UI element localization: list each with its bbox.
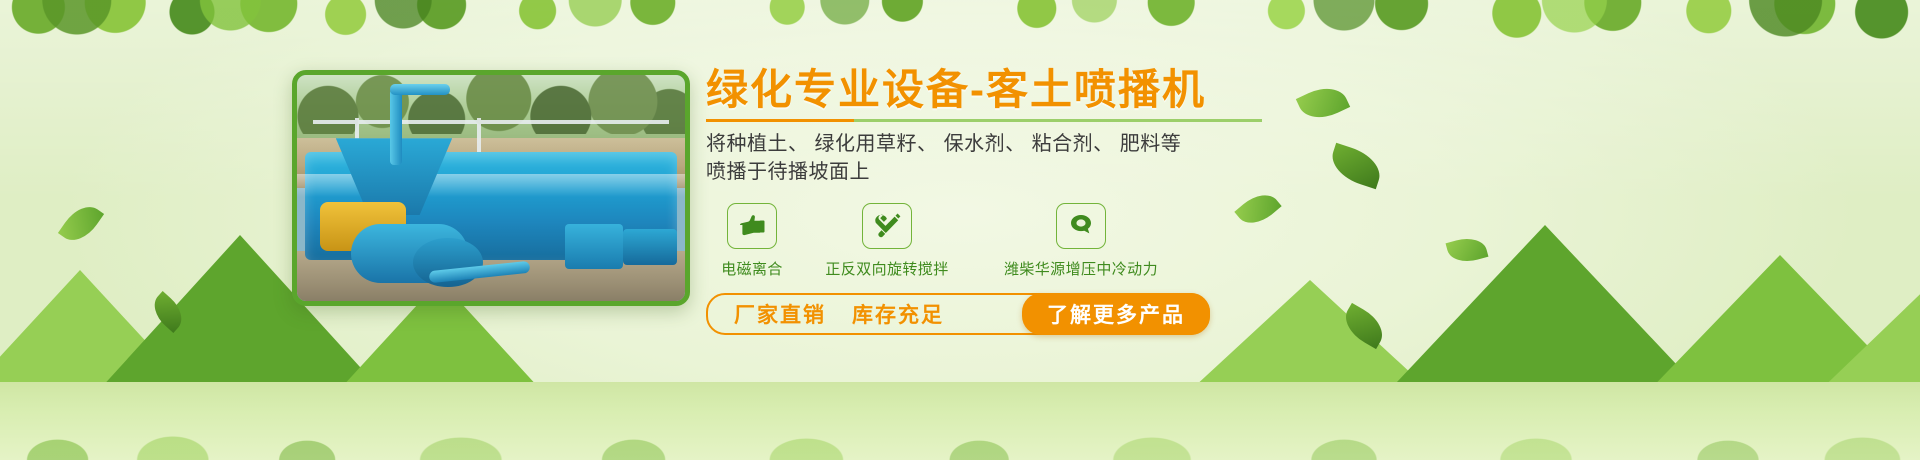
photo-tail-section bbox=[623, 229, 677, 265]
feature-label: 潍柴华源增压中冷动力 bbox=[1004, 258, 1158, 279]
engine-power-icon bbox=[1056, 203, 1106, 249]
product-photo-image bbox=[297, 75, 685, 301]
feature-label: 正反双向旋转搅拌 bbox=[825, 258, 948, 279]
feature-list: 电磁离合 正反双向旋转搅拌 bbox=[706, 203, 1266, 279]
subtitle-line-1: 将种植土、 绿化用草籽、 保水剂、 粘合剂、 肥料等 bbox=[706, 130, 1266, 158]
photo-top-pipe bbox=[390, 84, 450, 95]
feature-item-electromagnetic-clutch: 电磁离合 bbox=[706, 203, 798, 279]
banner-content: 绿化专业设备-客土喷播机 将种植土、 绿化用草籽、 保水剂、 粘合剂、 肥料等 … bbox=[706, 66, 1266, 335]
feature-label: 电磁离合 bbox=[721, 258, 783, 279]
cta-tag-in-stock: 库存充足 bbox=[852, 299, 944, 329]
foliage-top-overlay-decoration bbox=[0, 0, 1920, 70]
feature-item-bidirectional-mixing: 正反双向旋转搅拌 bbox=[798, 203, 976, 279]
cta-bar: 厂家直销 库存充足 了解更多产品 bbox=[706, 293, 1210, 335]
photo-vertical-pipe bbox=[390, 89, 402, 166]
cta-tag-factory-direct: 厂家直销 bbox=[734, 299, 826, 329]
thumbs-up-icon bbox=[727, 203, 777, 249]
photo-control-box bbox=[565, 224, 623, 269]
grass-decoration bbox=[0, 365, 1920, 460]
learn-more-button[interactable]: 了解更多产品 bbox=[1022, 293, 1210, 335]
page-title: 绿化专业设备-客土喷播机 bbox=[706, 66, 1266, 113]
product-photo bbox=[292, 70, 690, 306]
feature-item-weichai-power: 潍柴华源增压中冷动力 bbox=[976, 203, 1186, 279]
cta-tags: 厂家直销 库存充足 bbox=[708, 299, 944, 329]
wrench-screwdriver-icon bbox=[862, 203, 912, 249]
subtitle-line-2: 喷播于待播坡面上 bbox=[706, 158, 1266, 186]
promo-banner: 绿化专业设备-客土喷播机 将种植土、 绿化用草籽、 保水剂、 粘合剂、 肥料等 … bbox=[0, 0, 1920, 460]
title-divider bbox=[706, 119, 1262, 122]
